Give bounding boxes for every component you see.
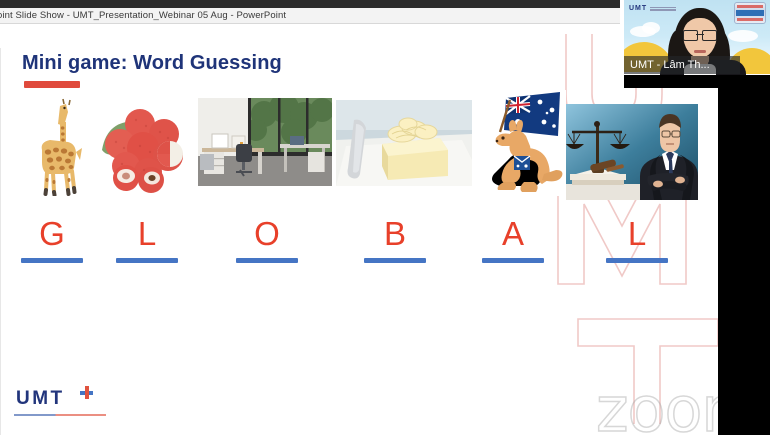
zoom-black-gutter xyxy=(718,88,770,435)
umt-logo: UMT xyxy=(14,388,106,422)
letters-row: G L O B A L xyxy=(0,212,720,282)
letter-underline xyxy=(116,258,178,263)
letter-glyph: A xyxy=(458,212,568,256)
powerpoint-title-bar: oint Slide Show - UMT_Presentation_Webin… xyxy=(0,8,620,24)
participant-name-label: UMT - Lâm Th... xyxy=(624,56,740,74)
umt-video-logo-text: UMT xyxy=(629,5,647,12)
lychee-image xyxy=(96,104,194,196)
letter-slot-3: O xyxy=(212,212,322,263)
letter-slot-6: L xyxy=(582,212,692,263)
umt-logo-rule xyxy=(14,414,106,416)
letter-glyph: B xyxy=(340,212,450,256)
letter-glyph: O xyxy=(212,212,322,256)
participant-video-tile[interactable]: UMT UMT - Lâm Th... xyxy=(624,0,770,88)
letter-slot-4: B xyxy=(340,212,450,263)
letter-underline xyxy=(606,258,668,263)
giraffe-image xyxy=(14,98,90,196)
letter-underline xyxy=(236,258,298,263)
butter-image xyxy=(336,100,472,186)
australia-kangaroo-image xyxy=(480,90,566,196)
letter-slot-1: G xyxy=(0,212,107,263)
letter-underline xyxy=(364,258,426,263)
video-tile-bottom-strip xyxy=(624,75,770,88)
letter-glyph: L xyxy=(92,212,202,256)
window-chrome-dark-strip xyxy=(0,0,620,8)
letter-glyph: G xyxy=(0,212,107,256)
title-accent-bar xyxy=(24,81,80,88)
page-title: Mini game: Word Guessing xyxy=(22,52,282,75)
window-title-text: oint Slide Show - UMT_Presentation_Webin… xyxy=(0,10,286,21)
letter-underline xyxy=(21,258,83,263)
letter-underline xyxy=(482,258,544,263)
letter-slot-5: A xyxy=(458,212,568,263)
glasses-icon xyxy=(683,30,717,39)
office-image xyxy=(198,98,332,186)
lawyer-image xyxy=(566,104,698,200)
letter-slot-2: L xyxy=(92,212,202,263)
umt-logo-text: UMT xyxy=(16,388,65,410)
screen-root: oint Slide Show - UMT_Presentation_Webin… xyxy=(0,0,770,435)
umt-plus-icon xyxy=(80,386,93,399)
letter-glyph: L xyxy=(582,212,692,256)
picture-row xyxy=(0,92,720,202)
